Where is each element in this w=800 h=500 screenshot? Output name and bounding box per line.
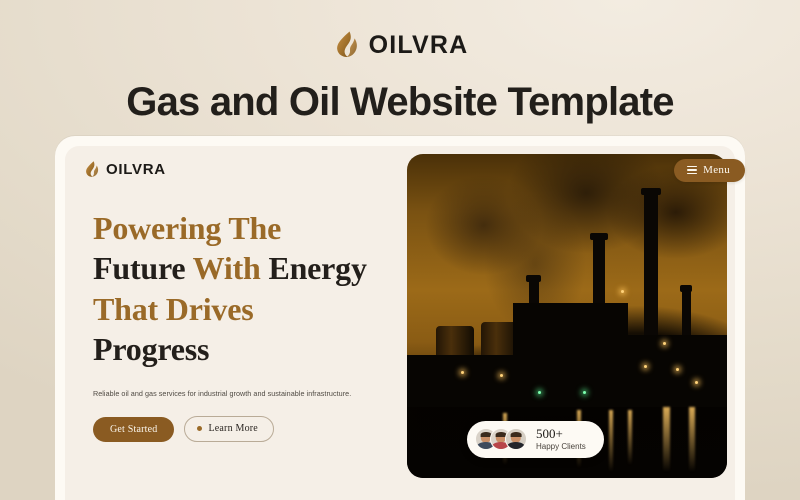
site-brand-wordmark: OILVRA [106,161,166,178]
plant-structure [513,303,628,400]
website-mockup-frame: OILVRA Menu Powering The Future With Ene… [55,136,745,500]
plant-structure [407,387,727,406]
headline-segment: Future [93,250,193,286]
learn-more-label: Learn More [208,423,257,434]
light-point [621,290,624,293]
water-reflection [663,407,670,472]
headline-line-2: Future With Energy [93,248,413,288]
flame-droplet-icon [83,160,100,179]
water-reflection [689,407,695,472]
site-header-brand[interactable]: OILVRA [83,160,166,179]
hero-copy: Powering The Future With Energy That Dri… [93,208,413,442]
get-started-button[interactable]: Get Started [93,417,174,442]
menu-button-label: Menu [703,164,730,176]
headline-segment: Progress [93,331,209,367]
headline-segment: With [193,250,269,286]
headline-segment: Powering The [93,210,281,246]
avatar [505,428,527,450]
bullet-dot-icon [197,426,202,431]
learn-more-button[interactable]: Learn More [184,416,273,442]
menu-button[interactable]: Menu [674,159,745,182]
light-point [644,365,647,368]
avatar-group [475,428,527,450]
clients-label: Happy Clients [536,443,586,452]
light-point [695,381,698,384]
light-point [583,391,586,394]
top-brand-lockup: OILVRA [0,30,800,60]
headline-line-4: Progress [93,329,413,369]
light-point [676,368,679,371]
website-mockup-viewport: OILVRA Menu Powering The Future With Ene… [65,146,735,500]
hero-subtext: Reliable oil and gas services for indust… [93,389,413,400]
page-background: OILVRA Gas and Oil Website Template [0,0,800,500]
page-title: Gas and Oil Website Template [0,80,800,125]
clients-count: 500+ [536,427,586,442]
headline-segment: That Drives [93,291,253,327]
clients-text: 500+ Happy Clients [536,427,586,453]
hero-cta-row: Get Started Learn More [93,416,413,442]
headline-segment: Energy [268,250,366,286]
water-reflection [609,410,613,472]
headline-line-3: That Drives [93,289,413,329]
hero-headline: Powering The Future With Energy That Dri… [93,208,413,369]
hamburger-icon [687,166,697,174]
light-point [663,342,666,345]
brand-wordmark: OILVRA [369,31,469,60]
light-point [538,391,541,394]
water-reflection [628,410,632,465]
flame-droplet-icon [332,30,360,60]
headline-line-1: Powering The [93,208,413,248]
happy-clients-badge: 500+ Happy Clients [467,421,604,459]
